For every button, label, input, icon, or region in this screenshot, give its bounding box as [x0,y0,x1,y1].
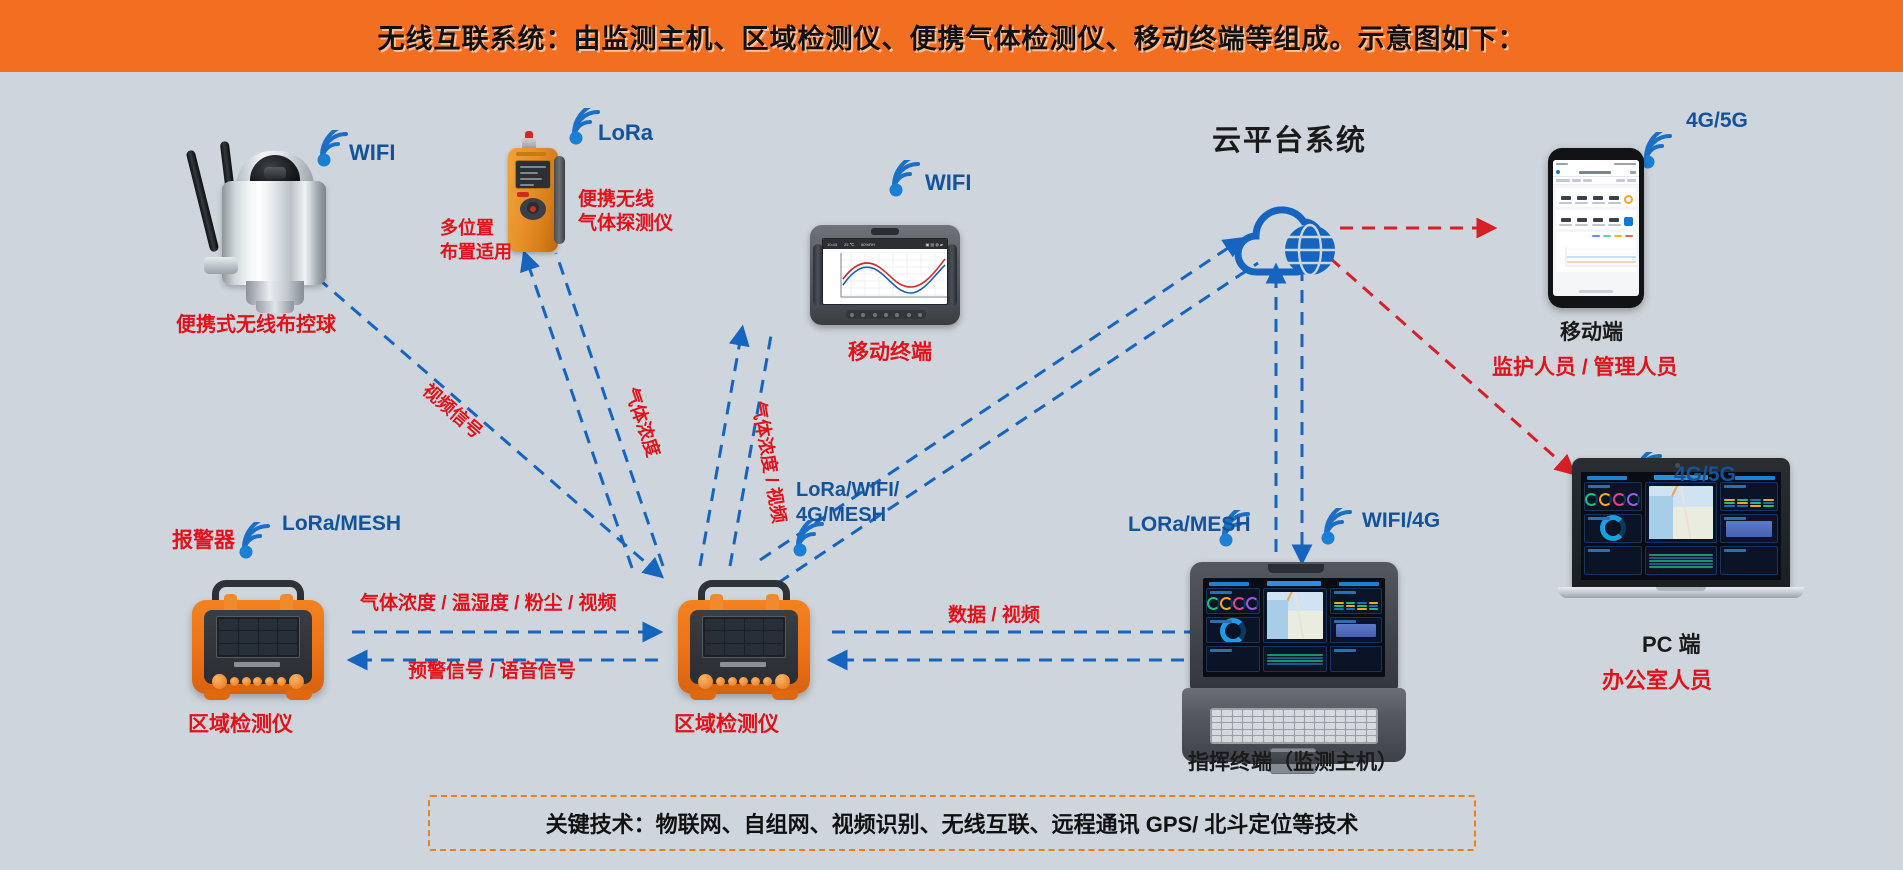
device-smartphone[interactable] [1548,148,1644,308]
node-cloud-platform[interactable] [1228,188,1358,288]
label-command-terminal: 指挥终端（监测主机） [1188,750,1398,776]
detector-strap [554,156,565,244]
wifi-icon-phone [1640,132,1680,170]
label-ptz-camera: 便携式无线布控球 [176,313,336,337]
device-area-detector-center[interactable] [668,578,828,708]
label-detector-backward: 预警信号 / 语音信号 [408,660,576,683]
pc-screen[interactable] [1581,472,1781,580]
tablet-camera [871,228,899,235]
label-pc-roles: 办公室人员 [1602,668,1712,695]
tablet-humidity: 60%RH [861,242,875,247]
detector-lcd-left [216,616,300,658]
label-pc-end: PC 端 [1642,632,1701,659]
label-wifi-tablet: WIFI [925,170,971,197]
label-center-wifi-line1: LoRa/WIFI/ [796,478,899,502]
command-lid [1190,562,1398,690]
tablet-grip-right [947,244,957,306]
detector-keys-center[interactable] [698,672,790,690]
tablet-statusbar: 10:43 25 ℃ 60%RH ▣ ▤ ◍ ▰ [823,239,947,249]
label-wifi-phone: 4G/5G [1686,108,1748,134]
detector-vent [516,152,546,156]
tablet-chart [823,249,948,305]
wifi-icon-command-right [1320,508,1360,546]
diagram-canvas: 无线互联系统：由监测主机、区域检测仪、便携气体检测仪、移动终端等组成。示意图如下… [0,0,1903,870]
label-mobile-roles: 监护人员 / 管理人员 [1492,355,1678,381]
tablet-time: 10:43 [827,242,837,247]
antenna-left [186,149,220,252]
label-wifi-camera: WIFI [349,140,395,167]
wifi-icon-tablet [888,160,928,198]
detector-brand-left [234,662,280,667]
detector-brand-center [720,662,766,667]
camera-foot [256,301,294,313]
detector-alarm-key [517,192,529,197]
phone-appbar [1553,168,1639,177]
globe-icon [1285,225,1335,275]
command-screen[interactable] [1203,578,1385,677]
command-notch [1268,564,1324,573]
label-wifi-area-detector-left: LoRa/MESH [282,511,401,537]
label-gas-detector-note2: 布置适用 [440,242,512,264]
label-mobile-end: 移动端 [1560,320,1623,346]
link-detector-to-tablet [700,330,742,566]
label-area-detector-left: 区域检测仪 [188,712,293,738]
label-detector-forward: 气体浓度 / 温湿度 / 粉尘 / 视频 [360,592,617,615]
detector-foot-l1 [204,690,230,700]
pc-dashboard [1581,472,1781,580]
detector-foot-c2 [772,690,798,700]
device-command-terminal[interactable] [1190,562,1398,762]
key-technologies-box: 关键技术：物联网、自组网、视频识别、无线互联、远程通讯 GPS/ 北斗定位等技术 [428,795,1476,851]
tablet-buttons[interactable] [846,310,926,319]
device-area-detector-left[interactable] [182,578,342,708]
label-wifi-gas-detector: LoRa [598,120,653,147]
detector-keypad [520,198,546,220]
pc-notch [1656,587,1706,591]
phone-screen[interactable] [1553,160,1639,296]
pc-base [1558,587,1804,598]
label-center-wifi-line2: 4G/MESH [796,503,886,527]
label-wifi-pc: 4G/5G [1674,462,1736,488]
detector-lcd-center [702,616,786,658]
label-gas-detector-line1: 便携无线 [578,188,654,211]
phone-chart-panel [1556,232,1636,272]
detector-foot-l2 [286,690,312,700]
label-alarm: 报警器 [172,528,235,554]
key-technologies-text: 关键技术：物联网、自组网、视频识别、无线互联、远程通讯 GPS/ 北斗定位等技术 [546,807,1359,839]
phone-statusbar [1553,160,1639,168]
detector-screen [515,160,551,189]
command-keyboard[interactable] [1210,708,1378,744]
camera-knob [204,257,238,274]
label-gas-detector-note1: 多位置 [440,218,494,240]
label-cloud-platform: 云平台系统 [1212,124,1367,159]
label-mobile-terminal: 移动终端 [848,340,932,366]
phone-card-2 [1556,210,1636,229]
detector-foot-c1 [690,690,716,700]
label-data-and-video: 数据 / 视频 [948,604,1040,627]
phone-toolbar[interactable] [1553,177,1639,185]
tablet-screen[interactable]: 10:43 25 ℃ 60%RH ▣ ▤ ◍ ▰ [822,238,948,305]
device-mobile-terminal[interactable]: 10:43 25 ℃ 60%RH ▣ ▤ ◍ ▰ [810,225,960,325]
tablet-temp: 25 ℃ [844,242,854,247]
command-dashboard [1203,578,1385,677]
detector-keys-left[interactable] [212,672,304,690]
label-command-wifi-right: WIFI/4G [1362,508,1440,534]
phone-card-1 [1556,188,1636,207]
label-gas-detector-line2: 气体探测仪 [578,212,673,235]
wifi-icon-alarm [238,522,278,560]
link-detector-to-gasdetector [525,255,632,568]
label-command-wifi-left: LORa/MESH [1128,512,1251,538]
label-area-detector-center: 区域检测仪 [674,712,779,738]
phone-home-indicator [1579,290,1613,293]
